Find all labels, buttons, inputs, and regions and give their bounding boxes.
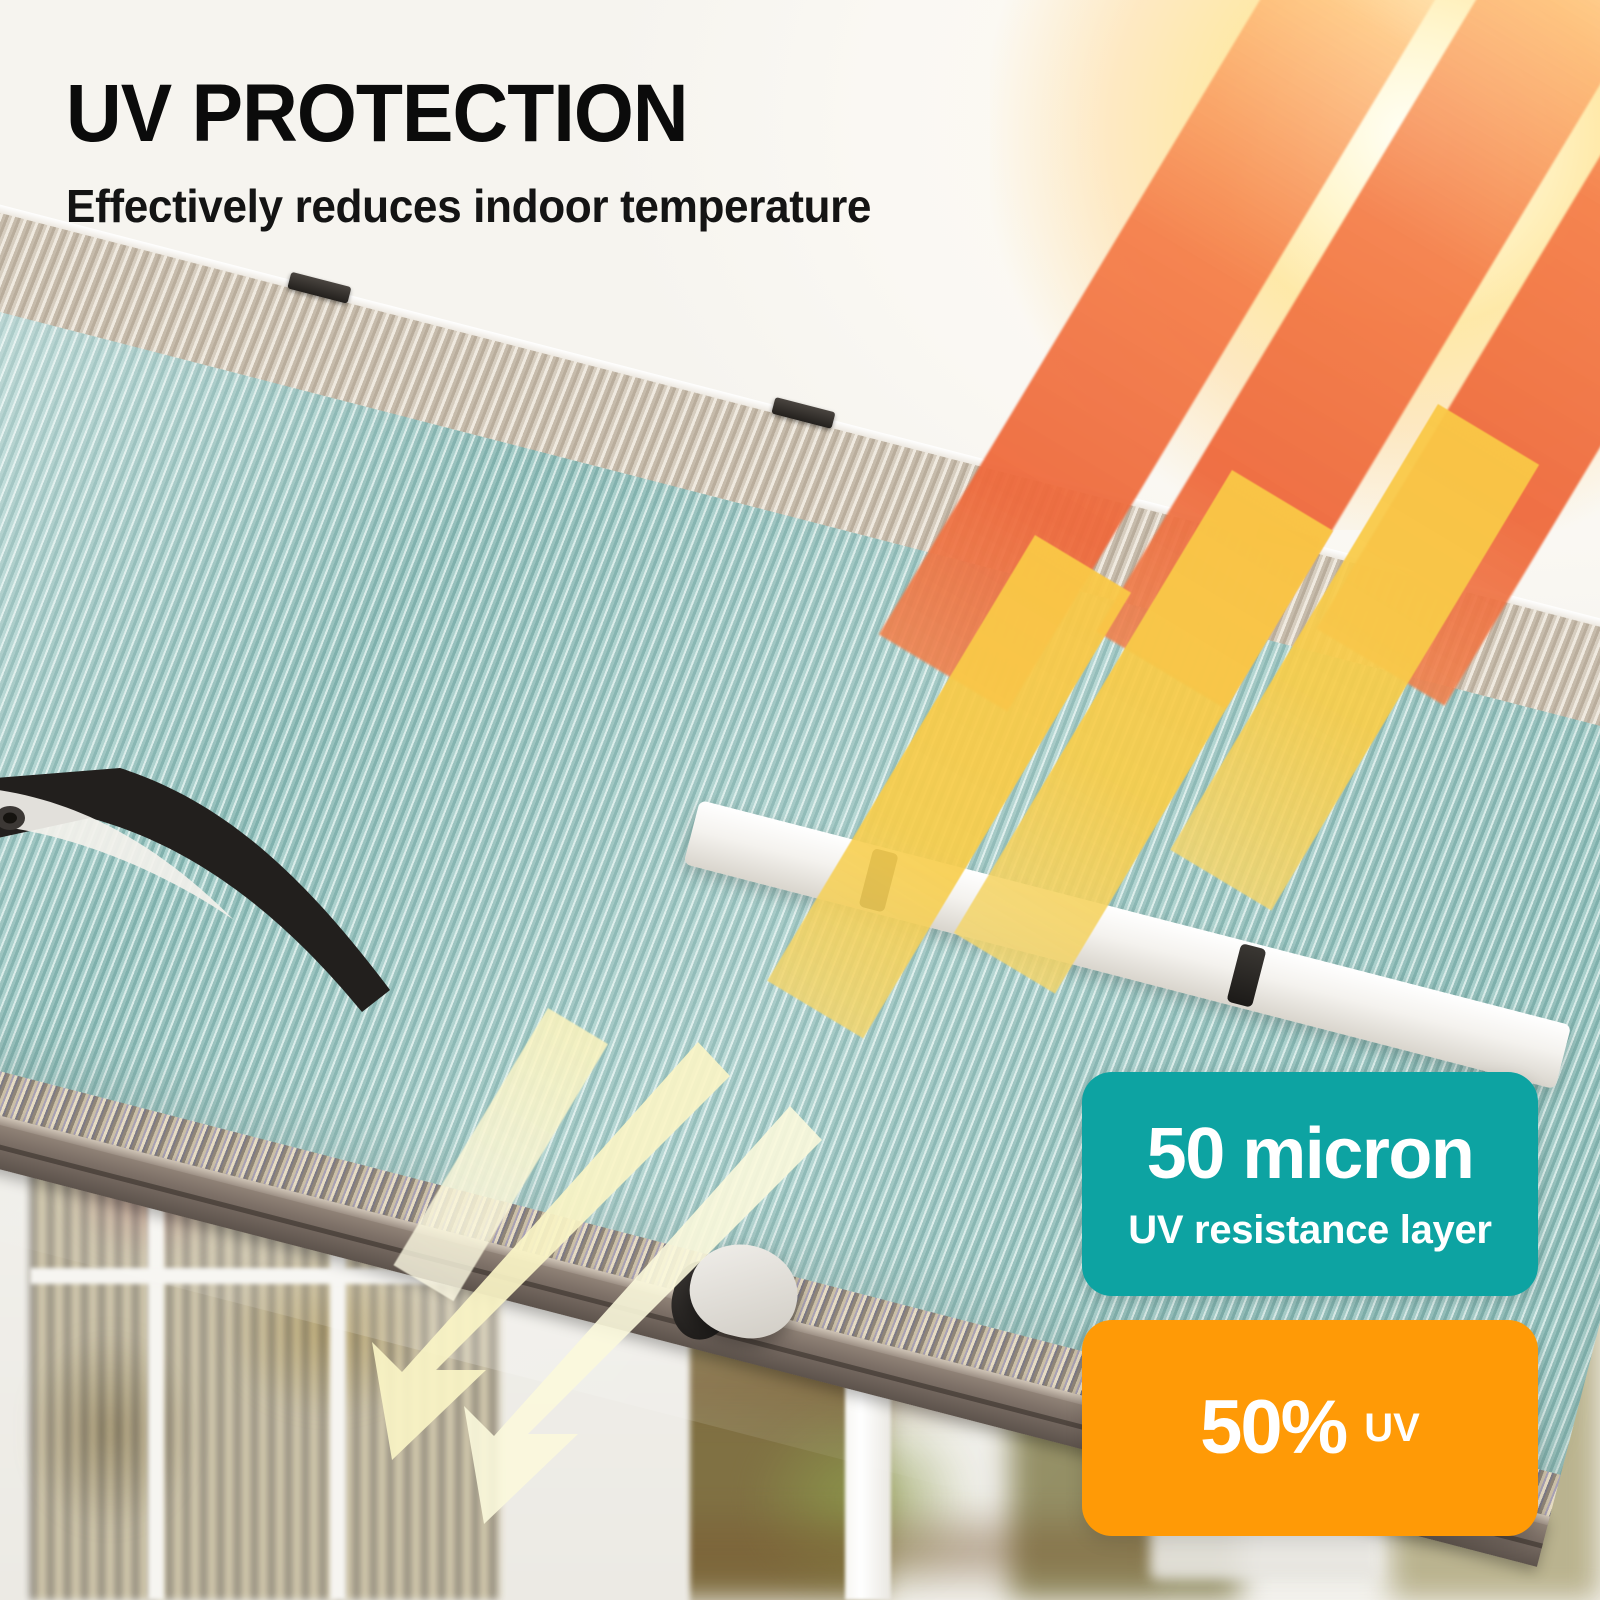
- gutter-clamp-icon: [1226, 943, 1266, 1008]
- page-title: UV PROTECTION: [66, 74, 1062, 154]
- badge-value-micron: 50 micron: [1147, 1118, 1474, 1190]
- page-subtitle: Effectively reduces indoor temperature: [66, 182, 1084, 230]
- status-badge-uv-layer: 50 micron UV resistance layer: [1082, 1072, 1538, 1296]
- badge-value-uv-percent: 50%: [1200, 1390, 1346, 1466]
- headline-block: UV PROTECTION Effectively reduces indoor…: [66, 74, 1126, 231]
- support-bracket-shape: [0, 760, 410, 1020]
- badge-label-uv: UV: [1364, 1408, 1420, 1448]
- support-bracket: [0, 760, 410, 1020]
- gutter-clamp-icon: [858, 848, 898, 913]
- badge-label-uv-resistance: UV resistance layer: [1128, 1210, 1491, 1250]
- status-badge-uv-percent: 50% UV: [1082, 1320, 1538, 1536]
- promo-image: UV PROTECTION Effectively reduces indoor…: [0, 0, 1600, 1600]
